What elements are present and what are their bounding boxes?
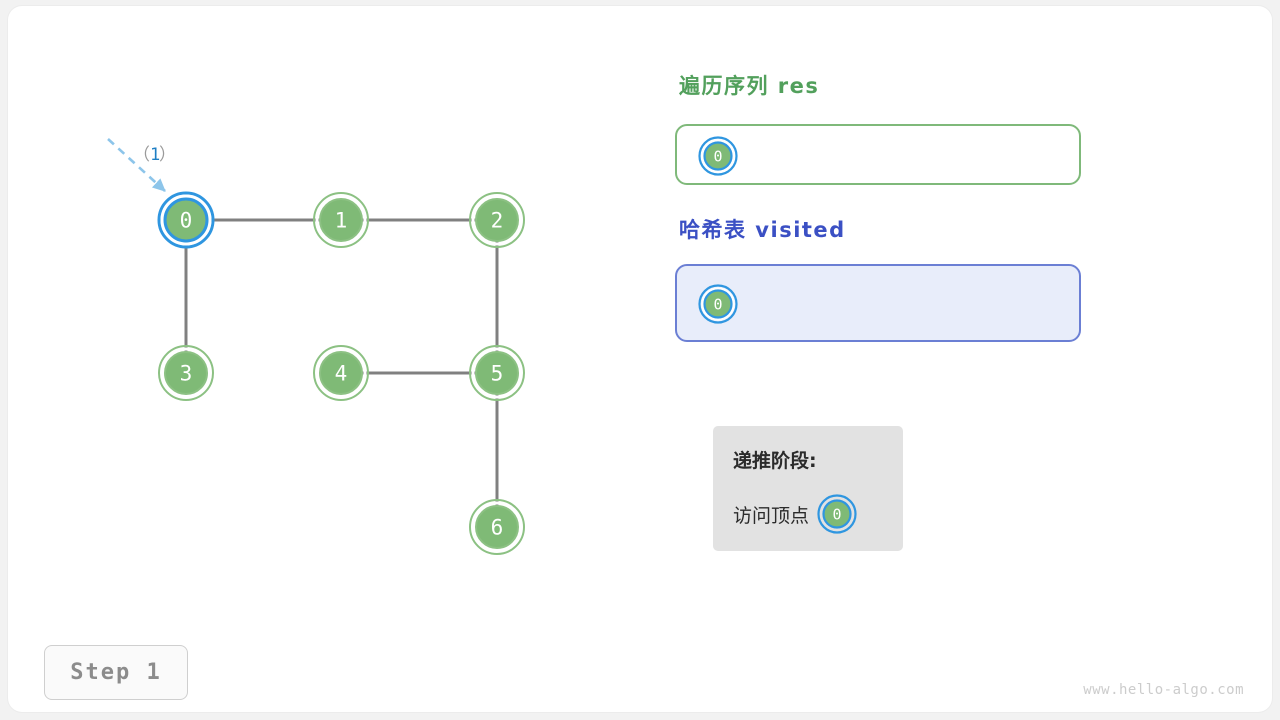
graph-nodes: 0123456 (159, 193, 524, 554)
graph-node-6[interactable]: 6 (470, 500, 524, 554)
graph-diagram: 0123456 （ 1 ） (8, 6, 628, 626)
visited-item-0-label: 0 (713, 296, 722, 314)
graph-node-5-label: 5 (491, 362, 504, 386)
phase-info-action-text: 访问顶点 (733, 501, 809, 528)
graph-node-4-label: 4 (335, 362, 348, 386)
res-heading: 遍历序列 res (679, 70, 819, 100)
graph-node-2[interactable]: 2 (470, 193, 524, 247)
graph-node-3[interactable]: 3 (159, 346, 213, 400)
annotation-paren-close: ） (159, 145, 176, 165)
visited-hashmap-box: 0 (675, 264, 1081, 342)
graph-node-1[interactable]: 1 (314, 193, 368, 247)
annotation-paren-open: （ (133, 145, 150, 165)
screenshot-root: 0123456 （ 1 ） 遍历序列 res 0 哈希表 visited (0, 0, 1280, 720)
graph-node-1-label: 1 (335, 209, 348, 233)
phase-info-title: 递推阶段: (733, 446, 817, 473)
traversal-order-annotation: （ 1 ） (108, 139, 176, 191)
graph-node-2-label: 2 (491, 209, 504, 233)
step-label: Step 1 (70, 660, 161, 685)
res-item-0-label: 0 (713, 148, 722, 166)
phase-info-box: 递推阶段: 访问顶点 0 (713, 426, 903, 551)
res-item-0[interactable]: 0 (698, 136, 738, 176)
step-badge: Step 1 (44, 645, 188, 700)
graph-node-6-label: 6 (491, 516, 504, 540)
graph-node-3-label: 3 (180, 362, 193, 386)
graph-node-0-label: 0 (180, 209, 193, 233)
phase-info-vertex-label: 0 (833, 506, 842, 524)
visited-heading: 哈希表 visited (679, 214, 846, 244)
phase-info-vertex-chip: 0 (817, 494, 857, 534)
res-array-box: 0 (675, 124, 1081, 185)
visited-item-0[interactable]: 0 (698, 284, 738, 324)
footer-url: www.hello-algo.com (1083, 682, 1244, 698)
graph-node-4[interactable]: 4 (314, 346, 368, 400)
graph-node-0[interactable]: 0 (159, 193, 213, 247)
phase-info-action: 访问顶点 0 (733, 494, 857, 534)
content-card: 0123456 （ 1 ） 遍历序列 res 0 哈希表 visited (8, 6, 1272, 712)
graph-node-5[interactable]: 5 (470, 346, 524, 400)
